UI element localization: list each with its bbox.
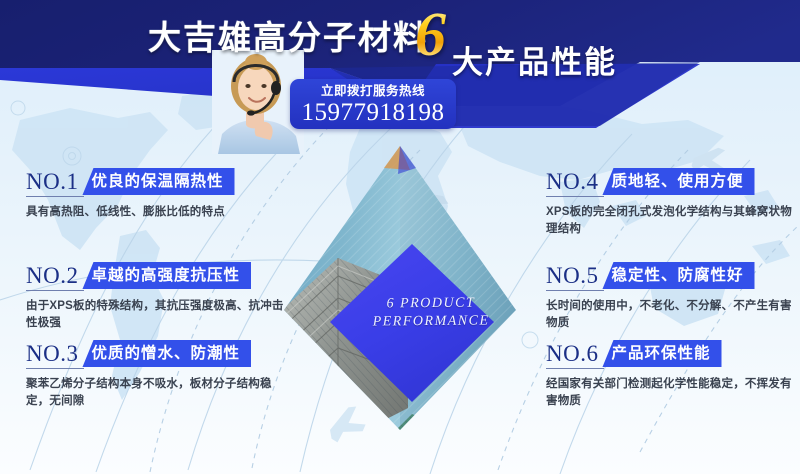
feature-number: NO.1: [26, 168, 84, 197]
feature-body: 由于XPS板的特殊结构，其抗压强度极高、抗冲击性极强: [26, 298, 294, 332]
hotline-box[interactable]: 立即拨打服务热线 15977918198: [290, 79, 456, 129]
page-subtitle: 大产品性能: [452, 37, 617, 82]
feature-title-bar: 卓越的高强度抗压性: [82, 262, 251, 289]
feature-body: 聚苯乙烯分子结构本身不吸水，板材分子结构稳定，无间隙: [26, 376, 294, 410]
feature-item-4: NO.4 质地轻、使用方便 XPS板的完全闭孔式发泡化学结构与其蜂窝状物理结构: [546, 168, 796, 238]
feature-item-5: NO.5 稳定性、防腐性好 长时间的使用中，不老化、不分解、不产生有害物质: [546, 262, 796, 332]
feature-header: NO.5 稳定性、防腐性好: [546, 262, 796, 292]
feature-header: NO.1 优良的保温隔热性: [26, 168, 294, 198]
feature-number: NO.5: [546, 262, 604, 291]
promotional-banner: 6 PRODUCT PERFORMANCE: [0, 0, 800, 474]
feature-title: 产品环保性能: [611, 344, 710, 364]
feature-number: NO.2: [26, 262, 84, 291]
feature-body: 长时间的使用中，不老化、不分解、不产生有害物质: [546, 298, 796, 332]
feature-header: NO.6 产品环保性能: [546, 340, 796, 370]
feature-item-6: NO.6 产品环保性能 经国家有关部门检测起化学性能稳定，不挥发有害物质: [546, 340, 796, 410]
feature-body: XPS板的完全闭孔式发泡化学结构与其蜂窝状物理结构: [546, 204, 796, 238]
feature-item-2: NO.2 卓越的高强度抗压性 由于XPS板的特殊结构，其抗压强度极高、抗冲击性极…: [26, 262, 294, 332]
feature-title-bar: 产品环保性能: [602, 340, 721, 367]
page-title: 大吉雄高分子材料: [148, 11, 428, 59]
highlight-number: 6: [415, 4, 446, 66]
feature-header: NO.4 质地轻、使用方便: [546, 168, 796, 198]
feature-title: 卓越的高强度抗压性: [91, 266, 240, 286]
feature-number: NO.3: [26, 340, 84, 369]
feature-item-1: NO.1 优良的保温隔热性 具有高热阻、低线性、膨胀比低的特点: [26, 168, 294, 221]
feature-body: 具有高热阻、低线性、膨胀比低的特点: [26, 204, 294, 221]
feature-title: 优质的憎水、防潮性: [91, 344, 240, 364]
feature-title: 优良的保温隔热性: [91, 172, 223, 192]
feature-item-3: NO.3 优质的憎水、防潮性 聚苯乙烯分子结构本身不吸水，板材分子结构稳定，无间…: [26, 340, 294, 410]
center-caption: 6 PRODUCT PERFORMANCE: [356, 294, 506, 331]
feature-header: NO.3 优质的憎水、防潮性: [26, 340, 294, 370]
feature-title: 质地轻、使用方便: [611, 172, 743, 192]
feature-number: NO.6: [546, 340, 604, 369]
feature-title-bar: 质地轻、使用方便: [602, 168, 754, 195]
feature-number: NO.4: [546, 168, 604, 197]
hotline-label: 立即拨打服务热线: [290, 83, 456, 99]
center-caption-line2: PERFORMANCE: [356, 312, 506, 331]
hotline-number: 15977918198: [290, 99, 456, 127]
feature-title-bar: 优良的保温隔热性: [82, 168, 234, 195]
center-caption-line1: 6 PRODUCT: [356, 294, 506, 313]
product-illustration: [280, 140, 570, 440]
feature-title-bar: 优质的憎水、防潮性: [82, 340, 251, 367]
feature-title: 稳定性、防腐性好: [611, 266, 743, 286]
feature-header: NO.2 卓越的高强度抗压性: [26, 262, 294, 292]
feature-body: 经国家有关部门检测起化学性能稳定，不挥发有害物质: [546, 376, 796, 410]
feature-title-bar: 稳定性、防腐性好: [602, 262, 754, 289]
